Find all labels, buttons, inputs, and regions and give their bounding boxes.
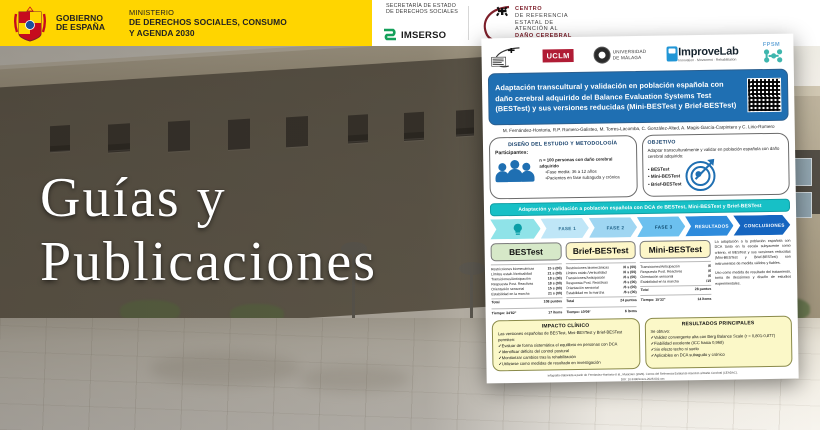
clinical-impact-item: Utilizarse como medidas de resultado en … xyxy=(498,359,634,367)
ministerio-label: MINISTERIO DE DERECHOS SOCIALES, CONSUMO… xyxy=(129,8,287,38)
participants-icon xyxy=(495,157,535,184)
clinical-impact-panel: IMPACTO CLÍNICO Las versiones españolas … xyxy=(492,318,640,372)
qr-code-icon[interactable] xyxy=(747,78,782,113)
methodology-bullets: Fase media: 36 a 12 años Pacientes en fa… xyxy=(539,168,631,182)
test-table: Restricciones biomecánicas15 s (00) Lími… xyxy=(491,263,562,316)
flow-step-fase2: FASE 2 xyxy=(589,217,638,238)
conclusion-paragraph-1: La adaptación a la población española co… xyxy=(715,239,791,267)
test-name: BESTest xyxy=(491,242,562,261)
ministerio-line1: MINISTERIO xyxy=(129,8,287,17)
flow-label: FASE 3 xyxy=(655,224,673,229)
improvelab-mark-icon xyxy=(666,46,677,61)
ceadac-text: CENTRO DE REFERENCIA ESTATAL DE ATENCIÓN… xyxy=(515,6,572,40)
main-results-item: Aplicables en DCA subagudo y crónico xyxy=(651,351,787,359)
poster-title: Adaptación transcultural y validación en… xyxy=(495,80,742,115)
test-name: Brief-BESTest xyxy=(565,241,636,260)
main-results-panel: RESULTADOS PRINCIPALES Se obtuvo: Valide… xyxy=(644,315,792,369)
objective-item: • Brief-BESTest xyxy=(648,180,682,188)
participants-count: n = 100 personas con daño cerebral adqui… xyxy=(539,156,612,168)
spain-coat-of-arms-icon xyxy=(14,4,46,42)
flow-label: RESULTADOS xyxy=(695,223,729,229)
poster-logo-row: UCLM UNIVERSIDAD DE MÁLAGA ImproveLab In… xyxy=(487,39,787,71)
table-time-row: Tiempo: 34'82"17 ítems xyxy=(492,307,563,316)
target-icon xyxy=(685,161,715,191)
flow-step-fase3: FASE 3 xyxy=(637,216,686,237)
secretaria-line2: DE DERECHOS SOCIALES xyxy=(386,9,458,15)
table-total-row: Total24 puntos xyxy=(566,297,637,305)
table-total-row: Total108 puntos xyxy=(491,298,562,306)
imserso-label: IMSERSO xyxy=(401,30,446,41)
header-divider xyxy=(468,6,469,40)
banner-image: GOBIERNO DE ESPAÑA MINISTERIO DE DERECHO… xyxy=(0,0,820,430)
process-flow: FASE 1 FASE 2 FASE 3 RESULTADOS CONCLUSI… xyxy=(490,215,790,240)
ceadac-line4: ATENCIÓN AL xyxy=(515,26,558,32)
objective-panel: OBJETIVO Adaptar transculturalmente y va… xyxy=(641,133,789,197)
ceadac-line1: CENTRO xyxy=(515,6,572,13)
uma-seal-icon xyxy=(594,46,611,63)
objective-heading: OBJETIVO xyxy=(647,138,783,146)
improvelab-label: ImproveLab xyxy=(678,45,739,58)
uclm-label: UCLM xyxy=(546,51,569,60)
poster-title-block: Adaptación transcultural y validación en… xyxy=(488,69,789,126)
secretaria-estado-label: SECRETARÍA DE ESTADO DE DERECHOS SOCIALE… xyxy=(386,3,458,16)
test-column-mini-bestest: Mini-BESTest Transiciones/Anticipación/6… xyxy=(640,240,712,314)
imserso-logo: IMSERSO xyxy=(382,27,458,43)
conclusion-paragraph-2: Uso como medida de resultado del tratami… xyxy=(715,270,791,287)
ceadac-swoosh-icon xyxy=(479,3,513,43)
flow-step-resultados: RESULTADOS xyxy=(685,216,734,237)
ceadac-line2: DE REFERENCIA xyxy=(515,13,568,19)
title-line-1: Guías y xyxy=(40,170,377,226)
flow-step-icon xyxy=(490,219,541,240)
methodology-panel: DISEÑO DEL ESTUDIO Y METODOLOGÍA Partici… xyxy=(489,135,637,199)
flow-label: FASE 2 xyxy=(607,225,625,230)
poster-intro-row: DISEÑO DEL ESTUDIO Y METODOLOGÍA Partici… xyxy=(489,133,790,200)
fpsm-cross-icon xyxy=(758,47,784,63)
gov-yellow-block: GOBIERNO DE ESPAÑA MINISTERIO DE DERECHO… xyxy=(0,0,372,46)
objective-items: • BESTest • Mini-BESTest • Brief-BESTest xyxy=(648,165,682,188)
improvelab-logo: ImproveLab Innovation · Movement · Rehab… xyxy=(666,45,739,62)
ministerio-line2: DE DERECHOS SOCIALES, CONSUMO xyxy=(129,17,287,28)
table-time-row: Tiempo: 15'32"14 ítems xyxy=(641,294,712,303)
test-column-brief-bestest: Brief-BESTest Restricciones biomecánicas… xyxy=(565,241,637,315)
test-column-bestest: BESTest Restricciones biomecánicas15 s (… xyxy=(491,242,563,316)
test-table: Transiciones/Anticipación/6 Respuesta Po… xyxy=(640,261,711,303)
title-line-2: Publicaciones xyxy=(40,234,377,290)
page-title: Guías y Publicaciones xyxy=(40,170,377,290)
uma-line2: DE MÁLAGA xyxy=(613,54,647,60)
poster-banner: Adaptación y validación a población espa… xyxy=(490,199,790,217)
fpsm-logo: FPSM xyxy=(758,41,784,63)
ceadac-logo-icon xyxy=(490,45,522,67)
flow-step-conclusiones: CONCLUSIONES xyxy=(733,215,790,236)
poster-bottom-row: IMPACTO CLÍNICO Las versiones españolas … xyxy=(492,315,793,372)
uma-logo: UNIVERSIDAD DE MÁLAGA xyxy=(594,46,647,64)
ceadac-line3: ESTATAL DE xyxy=(515,20,554,26)
flow-label: CONCLUSIONES xyxy=(744,222,785,228)
table-total-row: Total28 puntos xyxy=(641,285,712,293)
imserso-mark-icon xyxy=(382,27,397,43)
uclm-logo: UCLM xyxy=(542,49,573,62)
flow-label: FASE 1 xyxy=(558,226,576,231)
flow-step-fase1: FASE 1 xyxy=(541,218,590,239)
table-time-row: Tiempo: 10'09"6 ítems xyxy=(566,306,637,315)
research-poster[interactable]: UCLM UNIVERSIDAD DE MÁLAGA ImproveLab In… xyxy=(481,34,798,384)
gobierno-line2: DE ESPAÑA xyxy=(56,23,105,32)
uma-text: UNIVERSIDAD DE MÁLAGA xyxy=(613,49,647,61)
improvelab-sub: Innovation · Movement · Rehabilitation xyxy=(678,57,738,62)
tests-comparison: BESTest Restricciones biomecánicas15 s (… xyxy=(491,239,792,316)
ministerio-line3: Y AGENDA 2030 xyxy=(129,28,287,39)
gobierno-de-espana-label: GOBIERNO DE ESPAÑA xyxy=(56,14,105,32)
methodology-heading: DISEÑO DEL ESTUDIO Y METODOLOGÍA xyxy=(495,140,631,148)
test-table: Restricciones biomecánicas/6 s (00) Lími… xyxy=(566,262,637,315)
methodology-bullet: Pacientes en fase subaguda y crónica xyxy=(545,174,631,181)
conclusions-text: La adaptación a la población española co… xyxy=(715,239,792,313)
test-name: Mini-BESTest xyxy=(640,240,711,259)
